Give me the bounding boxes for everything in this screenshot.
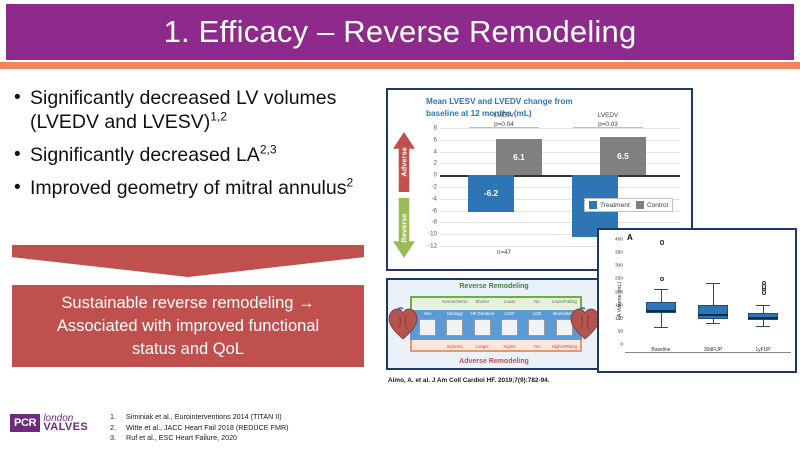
boxplot-median-line	[748, 317, 778, 319]
boxplot-outlier-point	[660, 240, 664, 244]
reverse-descriptor: Non-ischemic	[442, 299, 468, 304]
reverse-down-arrow-icon: Reverse	[393, 198, 415, 258]
y-axis-tick-label: 6	[434, 136, 437, 143]
boxplot-y-tick-label: 50	[618, 329, 623, 334]
reverse-descriptor-row: Non-ischemicShorterLowerNoLower/Falling	[410, 299, 582, 304]
title-underline-stripe	[0, 62, 800, 69]
adverse-up-arrow-icon: Adverse	[393, 132, 415, 192]
pcr-london-valves-logo: PCR london VALVES	[10, 414, 88, 432]
logo-pcr-mark: PCR	[10, 414, 40, 432]
adverse-arrow-label: Adverse	[400, 147, 409, 177]
gridline	[440, 222, 680, 223]
boxplot-box-group: 1yFUP	[748, 240, 778, 345]
y-axis-tick-label: -10	[428, 231, 437, 238]
page-title: 1. Efficacy – Reverse Remodeling	[164, 14, 637, 50]
logo-valves-text: VALVES	[43, 423, 88, 432]
boxplot-category-label: Baseline	[641, 347, 681, 353]
callout-text: Sustainable reverse remodeling → Associa…	[45, 292, 331, 361]
reference-number: 2.	[110, 423, 126, 434]
reference-number: 3.	[110, 433, 126, 444]
boxplot-whisker-cap	[756, 326, 770, 327]
boxplot-outlier-point	[660, 277, 664, 281]
reverse-descriptor: Shorter	[469, 299, 495, 304]
bar-value-label: 6.5	[600, 151, 646, 161]
bullet-text: Significantly decreased LA2,3	[30, 143, 277, 167]
callout-line-3: status and QoL	[132, 340, 244, 358]
chart-bar: 6.1	[496, 139, 542, 175]
boxplot-whisker-cap	[654, 327, 668, 328]
reference-list: 1. Siminiak et al., Eurointerventions 20…	[110, 412, 410, 444]
factor-icon-tile	[446, 319, 463, 336]
adverse-descriptor-row: IschemicLongerHigherYesHigher/Rising	[410, 344, 582, 349]
y-axis-tick-label: 0	[434, 172, 437, 179]
y-axis-tick-label: -6	[431, 207, 437, 214]
bullet-marker-icon: •	[14, 143, 30, 167]
adverse-descriptor: Yes	[524, 344, 550, 349]
adverse-descriptor: Ischemic	[442, 344, 468, 349]
reference-text: Witte et al., JACC Heart Fail 2018 (REDU…	[126, 423, 289, 434]
boxplot-whisker-cap	[706, 283, 720, 284]
remodeling-figure-panel: Reverse Remodeling Adverse Remodeling No…	[386, 278, 602, 370]
down-arrow-shape	[12, 245, 364, 277]
legend-label-control: Control	[647, 202, 668, 209]
factor-label: LGE	[525, 311, 549, 316]
y-axis-tick-label: 8	[434, 125, 437, 132]
y-axis-tick-label: 2	[434, 160, 437, 167]
reverse-remodeling-label: Reverse Remodeling	[388, 283, 600, 290]
bar-group-rule	[573, 127, 643, 128]
reverse-arrow-label: Reverse	[400, 213, 409, 242]
bar-value-label: 6.1	[496, 152, 542, 162]
boxplot-y-tick-label: 400	[615, 238, 623, 243]
factor-label: LVEF	[498, 311, 522, 316]
adverse-descriptor: Higher/Rising	[551, 344, 577, 349]
y-axis-tick-label: -2	[431, 184, 437, 191]
boxplot-y-tick-label: 150	[615, 303, 623, 308]
bullet-citation: 2	[346, 176, 353, 190]
bullet-text: Improved geometry of mitral annulus2	[30, 176, 353, 200]
factor-icon-tile	[419, 319, 436, 336]
factor-label: Sex	[416, 311, 440, 316]
reverse-descriptor: No	[524, 299, 550, 304]
y-axis-tick-label: -4	[431, 195, 437, 202]
boxplot-y-tick-label: 200	[615, 290, 623, 295]
bullet-marker-icon: •	[14, 86, 30, 110]
bullet-citation: 2,3	[260, 143, 277, 157]
list-item: 3. Ruf et al., ESC Heart Failure, 2020	[110, 433, 410, 444]
legend-item-treatment: Treatment	[589, 201, 630, 209]
reverse-descriptor: Lower/Falling	[551, 299, 577, 304]
adverse-descriptor: Higher	[497, 344, 523, 349]
reverse-descriptor	[415, 299, 441, 304]
boxplot-median-line	[698, 314, 728, 316]
y-axis-tick-label: 4	[434, 148, 437, 155]
boxplot-box-group: Baseline	[646, 240, 676, 345]
figure-citation: Aimo, A. et al. J Am Coll Cardiol HF. 20…	[388, 377, 549, 384]
boxplot-category-label: 30dFUP	[693, 347, 733, 353]
bullet-marker-icon: •	[14, 176, 30, 200]
callout-line-1: Sustainable reverse remodeling →	[61, 294, 314, 312]
bar-group-sample-size: n=47	[474, 249, 534, 256]
boxplot-median-line	[646, 310, 676, 312]
adverse-descriptor: Longer	[469, 344, 495, 349]
adverse-descriptor	[415, 344, 441, 349]
boxplot-plot-area: 400350300250200150100500Baseline30dFUP1y…	[625, 240, 791, 353]
list-item: • Significantly decreased LA2,3	[14, 143, 374, 167]
chart-bar: -6.2	[468, 175, 514, 212]
reference-text: Siminiak et al., Eurointerventions 2014 …	[126, 412, 282, 423]
list-item: • Improved geometry of mitral annulus2	[14, 176, 374, 200]
boxplot-y-tick-label: 0	[620, 343, 623, 348]
legend-item-control: Control	[636, 201, 668, 209]
y-axis-tick-label: -8	[431, 219, 437, 226]
summary-callout-box: Sustainable reverse remodeling → Associa…	[12, 285, 364, 367]
boxplot-box-group: 30dFUP	[698, 240, 728, 345]
bar-value-label: -6.2	[468, 188, 514, 198]
logo-wordmark: london VALVES	[43, 414, 88, 432]
factor-label-row: SexEtiologyHF DurationLVEFLGEBiomarkers	[410, 311, 582, 316]
boxplot-y-tick-label: 350	[615, 251, 623, 256]
heart-illustration-left	[388, 306, 418, 340]
bullet-body: Improved geometry of mitral annulus	[30, 177, 346, 199]
slide-title-bar: 1. Efficacy – Reverse Remodeling	[6, 4, 794, 60]
factor-label: Etiology	[443, 311, 467, 316]
boxplot-whisker-cap	[706, 323, 720, 324]
heart-illustration-right	[570, 306, 600, 340]
reference-text: Ruf et al., ESC Heart Failure, 2020	[126, 433, 237, 444]
boxplot-category-label: 1yFUP	[743, 347, 783, 353]
factor-tile-row	[410, 319, 582, 336]
bullet-list: • Significantly decreased LV volumes (LV…	[14, 86, 374, 209]
factor-icon-tile	[474, 319, 491, 336]
bullet-text: Significantly decreased LV volumes (LVED…	[30, 86, 374, 134]
list-item: 2. Witte et al., JACC Heart Fail 2018 (R…	[110, 423, 410, 434]
legend-label-treatment: Treatment	[600, 202, 630, 209]
boxplot-whisker-cap	[756, 305, 770, 306]
boxplot-y-tick-label: 100	[615, 316, 623, 321]
bar-group-rule	[469, 127, 539, 128]
boxplot-box	[698, 305, 728, 319]
list-item: 1. Siminiak et al., Eurointerventions 20…	[110, 412, 410, 423]
factor-icon-tile	[528, 319, 545, 336]
bullet-citation: 1,2	[210, 110, 227, 124]
chart-legend: Treatment Control	[584, 198, 673, 212]
reverse-descriptor: Lower	[497, 299, 523, 304]
reference-number: 1.	[110, 412, 126, 423]
list-item: • Significantly decreased LV volumes (LV…	[14, 86, 374, 134]
factor-icon-tile	[501, 319, 518, 336]
boxplot-y-tick-label: 250	[615, 277, 623, 282]
y-axis: 86420-2-4-6-8-10-12	[420, 128, 438, 246]
boxplot-whisker-cap	[654, 289, 668, 290]
y-axis-tick-label: -12	[428, 243, 437, 250]
bullet-body: Significantly decreased LA	[30, 144, 260, 166]
legend-swatch-control	[636, 201, 644, 209]
adverse-remodeling-label: Adverse Remodeling	[388, 358, 600, 365]
bullet-body: Significantly decreased LV volumes (LVED…	[30, 87, 336, 133]
boxplot-y-tick-label: 300	[615, 264, 623, 269]
boxplot-panel: A LA Volume (mL) 40035030025020015010050…	[597, 228, 797, 373]
chart-bar: 6.5	[600, 137, 646, 175]
boxplot-y-axis-label: LA Volume (mL)	[617, 281, 623, 319]
chart-title-line-1: Mean LVESV and LVEDV change from	[426, 97, 573, 106]
direction-arrow-column: Adverse Reverse	[391, 132, 417, 262]
legend-swatch-treatment	[589, 201, 597, 209]
factor-tile-band: SexEtiologyHF DurationLVEFLGEBiomarkers	[410, 310, 582, 340]
factor-label: HF Duration	[470, 311, 494, 316]
callout-line-2: Associated with improved functional	[57, 317, 319, 335]
